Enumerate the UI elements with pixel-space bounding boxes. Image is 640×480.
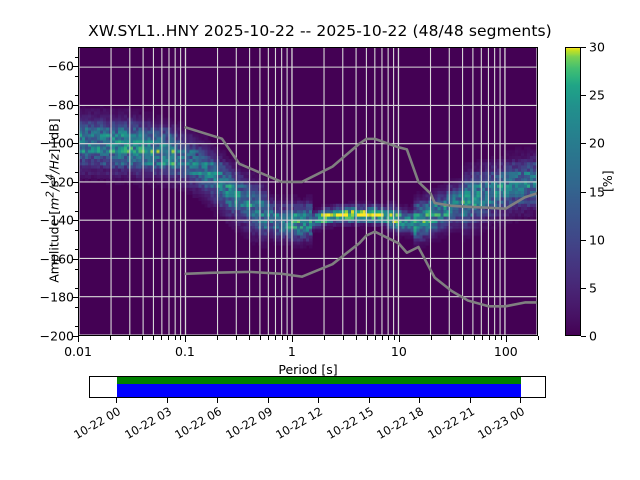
x-axis-tick: [399, 336, 400, 342]
x-axis-minor-tick: [268, 336, 269, 340]
colorbar-tick: [581, 47, 586, 48]
x-axis-minor-tick: [382, 336, 383, 340]
y-axis-minor-tick: [75, 76, 79, 77]
colorbar-tick: [581, 143, 586, 144]
colorbar-tick: [581, 240, 586, 241]
x-axis-tick-label: 0.01: [64, 344, 92, 359]
x-axis-minor-tick: [110, 336, 111, 340]
timeline-bar-green: [117, 377, 521, 384]
x-axis-tick-label: 10: [391, 344, 407, 359]
colorbar-tick: [581, 192, 586, 193]
colorbar-tick-label: 15: [589, 184, 605, 199]
timeline-tick-label: 10-22 00: [66, 404, 123, 445]
x-axis-minor-tick: [482, 336, 483, 340]
x-axis-tick: [78, 336, 79, 342]
coverage-timeline[interactable]: [89, 376, 546, 398]
x-axis-minor-tick: [287, 336, 288, 340]
y-axis-minor-tick: [75, 211, 79, 212]
colorbar: [565, 47, 581, 336]
x-axis-minor-tick: [375, 336, 376, 340]
timeline-tick: [369, 398, 370, 403]
x-axis-minor-tick: [129, 336, 130, 340]
x-axis-tick-label: 1: [288, 344, 296, 359]
x-axis-minor-tick: [236, 336, 237, 340]
y-axis-tick-label: −60: [48, 59, 74, 74]
timeline-tick-label: 10-22 15: [318, 404, 375, 445]
timeline-tick: [470, 398, 471, 403]
x-axis-minor-tick: [538, 336, 539, 340]
timeline-tick-label: 10-22 12: [268, 404, 325, 445]
noise-model-curves: [79, 48, 537, 335]
colorbar-tick-label: 30: [589, 40, 605, 55]
x-axis-minor-tick: [431, 336, 432, 340]
x-axis-minor-tick: [217, 336, 218, 340]
y-axis-tick-label: −200: [40, 329, 74, 344]
page-title: XW.SYL1..HNY 2025-10-22 -- 2025-10-22 (4…: [0, 22, 640, 40]
colorbar-tick-label: 0: [589, 329, 597, 344]
colorbar-tick-label: 5: [589, 280, 597, 295]
x-axis-minor-tick: [282, 336, 283, 340]
x-axis-minor-tick: [175, 336, 176, 340]
timeline-tick-label: 10-22 18: [369, 404, 426, 445]
y-axis-minor-tick: [75, 172, 79, 173]
x-axis-minor-tick: [324, 336, 325, 340]
y-axis-minor-tick: [75, 307, 79, 308]
x-axis-minor-tick: [356, 336, 357, 340]
y-axis-minor-tick: [75, 57, 79, 58]
y-axis-minor-tick: [75, 114, 79, 115]
x-axis-minor-tick: [367, 336, 368, 340]
y-axis-tick-label: −80: [48, 97, 74, 112]
y-axis-minor-tick: [75, 192, 79, 193]
y-axis-minor-tick: [75, 249, 79, 250]
colorbar-tick: [581, 288, 586, 289]
x-axis-minor-tick: [501, 336, 502, 340]
timeline-tick-label: 10-23 00: [470, 404, 527, 445]
x-axis-minor-tick: [180, 336, 181, 340]
timeline-tick: [318, 398, 319, 403]
ppsd-plot-area: [78, 47, 538, 336]
colorbar-tick: [581, 336, 586, 337]
y-axis-minor-tick: [75, 326, 79, 327]
x-axis-tick-label: 100: [494, 344, 518, 359]
colorbar-tick-label: 10: [589, 232, 605, 247]
colorbar-tick-label: 20: [589, 136, 605, 151]
x-axis-tick: [292, 336, 293, 342]
colorbar-tick-label: 25: [589, 88, 605, 103]
x-axis-minor-tick: [343, 336, 344, 340]
x-axis-minor-tick: [495, 336, 496, 340]
y-axis-tick-label: −100: [40, 136, 74, 151]
x-axis-title: Period [s]: [78, 362, 538, 377]
colorbar-tick: [581, 95, 586, 96]
x-axis-minor-tick: [249, 336, 250, 340]
x-axis-minor-tick: [142, 336, 143, 340]
timeline-tick: [520, 398, 521, 403]
x-axis-minor-tick: [161, 336, 162, 340]
x-axis-minor-tick: [474, 336, 475, 340]
timeline-tick-label: 10-22 03: [116, 404, 173, 445]
timeline-tick: [116, 398, 117, 403]
y-axis-tick-label: −140: [40, 213, 74, 228]
y-axis-tick-label: −120: [40, 174, 74, 189]
x-axis-minor-tick: [168, 336, 169, 340]
y-axis-minor-tick: [75, 95, 79, 96]
x-axis-minor-tick: [388, 336, 389, 340]
y-axis-minor-tick: [75, 269, 79, 270]
timeline-tick-label: 10-22 09: [217, 404, 274, 445]
y-axis-minor-tick: [75, 230, 79, 231]
x-axis-minor-tick: [260, 336, 261, 340]
timeline-tick-label: 10-22 21: [419, 404, 476, 445]
timeline-bar-blue: [117, 384, 521, 397]
y-axis-tick-label: −180: [40, 290, 74, 305]
timeline-tick: [167, 398, 168, 403]
x-axis-minor-tick: [153, 336, 154, 340]
x-axis-tick: [506, 336, 507, 342]
x-axis-minor-tick: [463, 336, 464, 340]
timeline-tick-label: 10-22 06: [167, 404, 224, 445]
timeline-tick: [419, 398, 420, 403]
y-axis-minor-tick: [75, 288, 79, 289]
y-axis-tick-label: −160: [40, 251, 74, 266]
y-axis-minor-tick: [75, 134, 79, 135]
timeline-tick: [217, 398, 218, 403]
x-axis-minor-tick: [489, 336, 490, 340]
x-axis-minor-tick: [450, 336, 451, 340]
y-axis-minor-tick: [75, 153, 79, 154]
x-axis-minor-tick: [275, 336, 276, 340]
x-axis-minor-tick: [394, 336, 395, 340]
x-axis-tick-label: 0.1: [175, 344, 195, 359]
timeline-tick: [268, 398, 269, 403]
x-axis-tick: [185, 336, 186, 342]
